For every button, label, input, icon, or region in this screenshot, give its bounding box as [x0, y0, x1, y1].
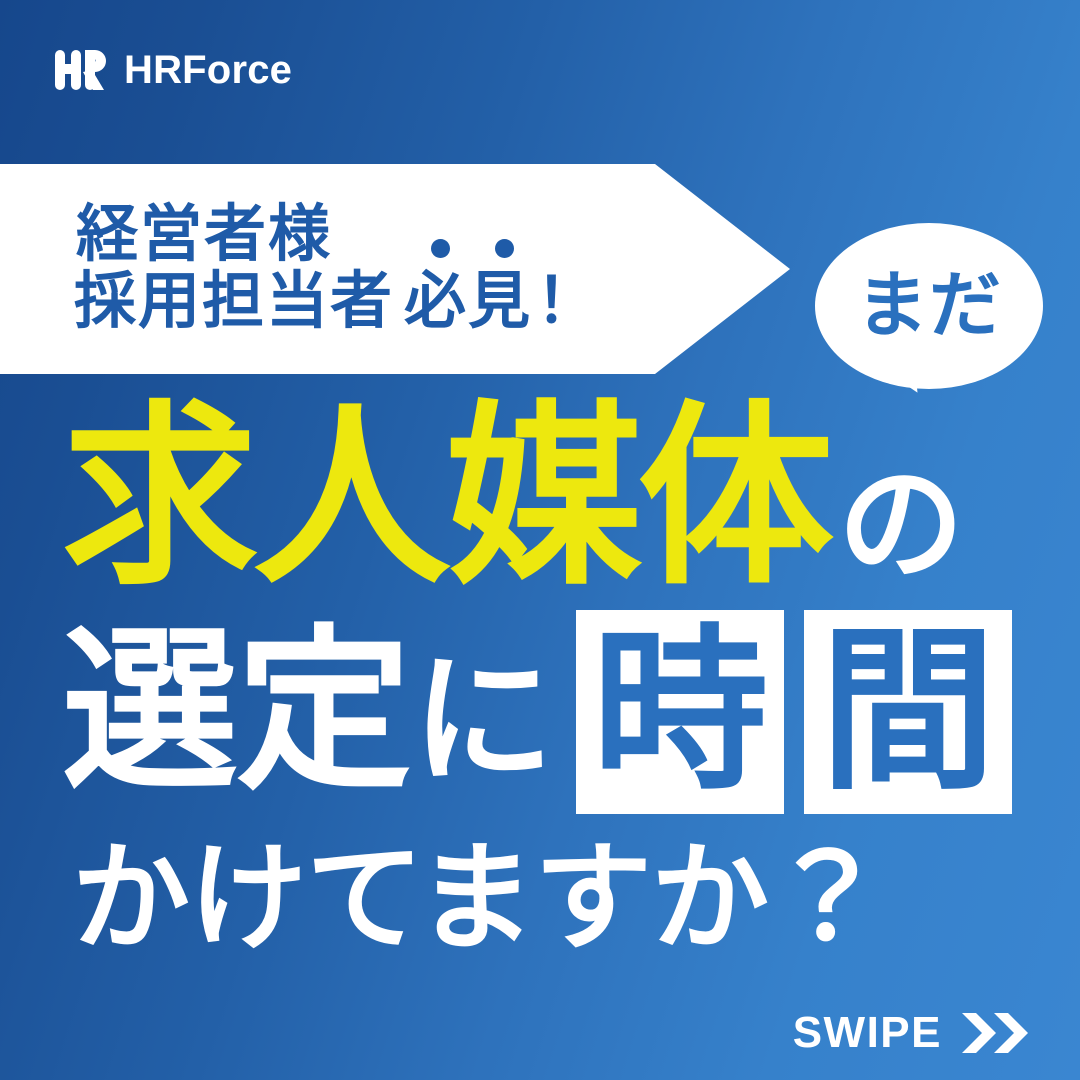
swipe-cue[interactable]: SWIPE: [793, 1010, 1034, 1056]
headline-line-1: 求人媒体 の: [0, 404, 1080, 592]
headline-particle-ni: に: [412, 651, 554, 790]
brand-logo[interactable]: HRForce: [52, 42, 292, 98]
headline-highlight: 求人媒体: [62, 404, 830, 592]
banner-emphasis-text: 必見: [404, 267, 532, 336]
banner-emphasis-group: 必見: [404, 269, 532, 336]
banner-line-2-text: 採用担当者: [74, 269, 394, 336]
headline-boxed-ji: 時: [576, 610, 784, 814]
double-chevron-right-icon: [960, 1010, 1034, 1056]
headline-line-3: かけてますか？: [0, 840, 1080, 958]
swipe-label: SWIPE: [793, 1011, 942, 1055]
banner-line-2: 採用担当者 必見 ！: [0, 269, 790, 336]
speech-bubble: まだ: [815, 223, 1043, 389]
headline-boxed-kan: 間: [804, 610, 1012, 814]
poster-canvas: HRForce 経営者様 採用担当者 必見 ！ まだ 求人媒体 の 選定 に 時…: [0, 0, 1080, 1080]
headline-particle-no: の: [838, 465, 964, 586]
headline-block: 求人媒体 の 選定 に 時 間 かけてますか？: [0, 404, 1080, 958]
hr-monogram-icon: [52, 42, 108, 98]
headline-line-2: 選定 に 時 間: [0, 610, 1080, 814]
headline-question: かけてますか？: [72, 840, 885, 958]
speech-bubble-text: まだ: [856, 270, 1002, 342]
banner-line-1: 経営者様: [0, 202, 790, 269]
headline-sentei: 選定: [62, 626, 410, 798]
audience-banner: 経営者様 採用担当者 必見 ！: [0, 164, 790, 374]
banner-exclamation: ！: [536, 269, 600, 336]
brand-name: HRForce: [124, 50, 292, 90]
